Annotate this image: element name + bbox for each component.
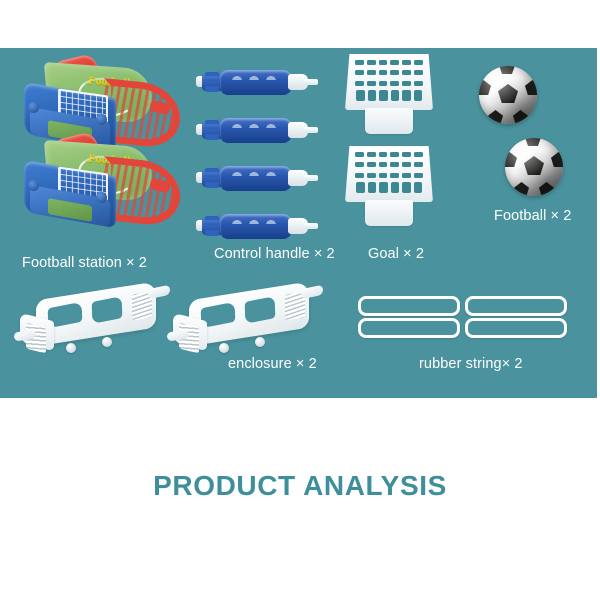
rubber-string-icon [465, 296, 567, 316]
product-analysis-page: Football Football Football station × 2 [0, 0, 600, 600]
goal-label: Goal × 2 [368, 246, 424, 262]
goal-hole-grid [355, 152, 423, 180]
handle-rod [304, 127, 318, 133]
goal-icon [345, 54, 433, 140]
enclosure-icon [14, 285, 174, 363]
soccer-ball-icon [479, 66, 537, 124]
station-knob-left [28, 102, 39, 113]
goal-icon [345, 146, 433, 232]
parts-panel: Football Football Football station × 2 [0, 48, 597, 398]
handle-grip-waves [228, 167, 286, 176]
handle-rod [304, 79, 318, 85]
football-label: Football × 2 [494, 208, 571, 224]
goal-base [365, 108, 413, 134]
handle-rod [304, 223, 318, 229]
control-handle-icon [196, 164, 314, 194]
page-title: PRODUCT ANALYSIS [0, 470, 600, 502]
enclosure-label: enclosure × 2 [228, 356, 317, 372]
handle-prongs [205, 216, 219, 236]
station-knob-right [96, 192, 107, 203]
rubber-string-icon [465, 318, 567, 338]
handle-grip-waves [228, 215, 286, 224]
handle-rod [304, 175, 318, 181]
station-knob-left [28, 180, 39, 191]
handle-prongs [205, 72, 219, 92]
rubber-string-label: rubber string× 2 [419, 356, 523, 372]
control-handle-label: Control handle × 2 [214, 246, 335, 262]
rubber-string-icon [358, 296, 460, 316]
ball-shading [479, 66, 537, 124]
enclosure-wheel-front [66, 343, 76, 353]
enclosure-wheel-front [219, 343, 229, 353]
enclosure-wheel-rear [255, 337, 265, 347]
football-station-icon: Football [18, 136, 170, 228]
handle-grip-waves [228, 71, 286, 80]
goal-base [365, 200, 413, 226]
soccer-ball-icon [505, 138, 563, 196]
handle-prongs [205, 120, 219, 140]
football-station-label: Football station × 2 [22, 255, 147, 271]
handle-grip-waves [228, 119, 286, 128]
goal-hole-grid [355, 60, 423, 88]
enclosure-icon [167, 285, 327, 363]
control-handle-icon [196, 68, 314, 98]
station-knob-right [96, 114, 107, 125]
rubber-string-icon [358, 318, 460, 338]
enclosure-wheel-rear [102, 337, 112, 347]
control-handle-icon [196, 116, 314, 146]
control-handle-icon [196, 212, 314, 242]
goal-large-hole-row [356, 182, 422, 193]
handle-prongs [205, 168, 219, 188]
goal-large-hole-row [356, 90, 422, 101]
ball-shading [505, 138, 563, 196]
